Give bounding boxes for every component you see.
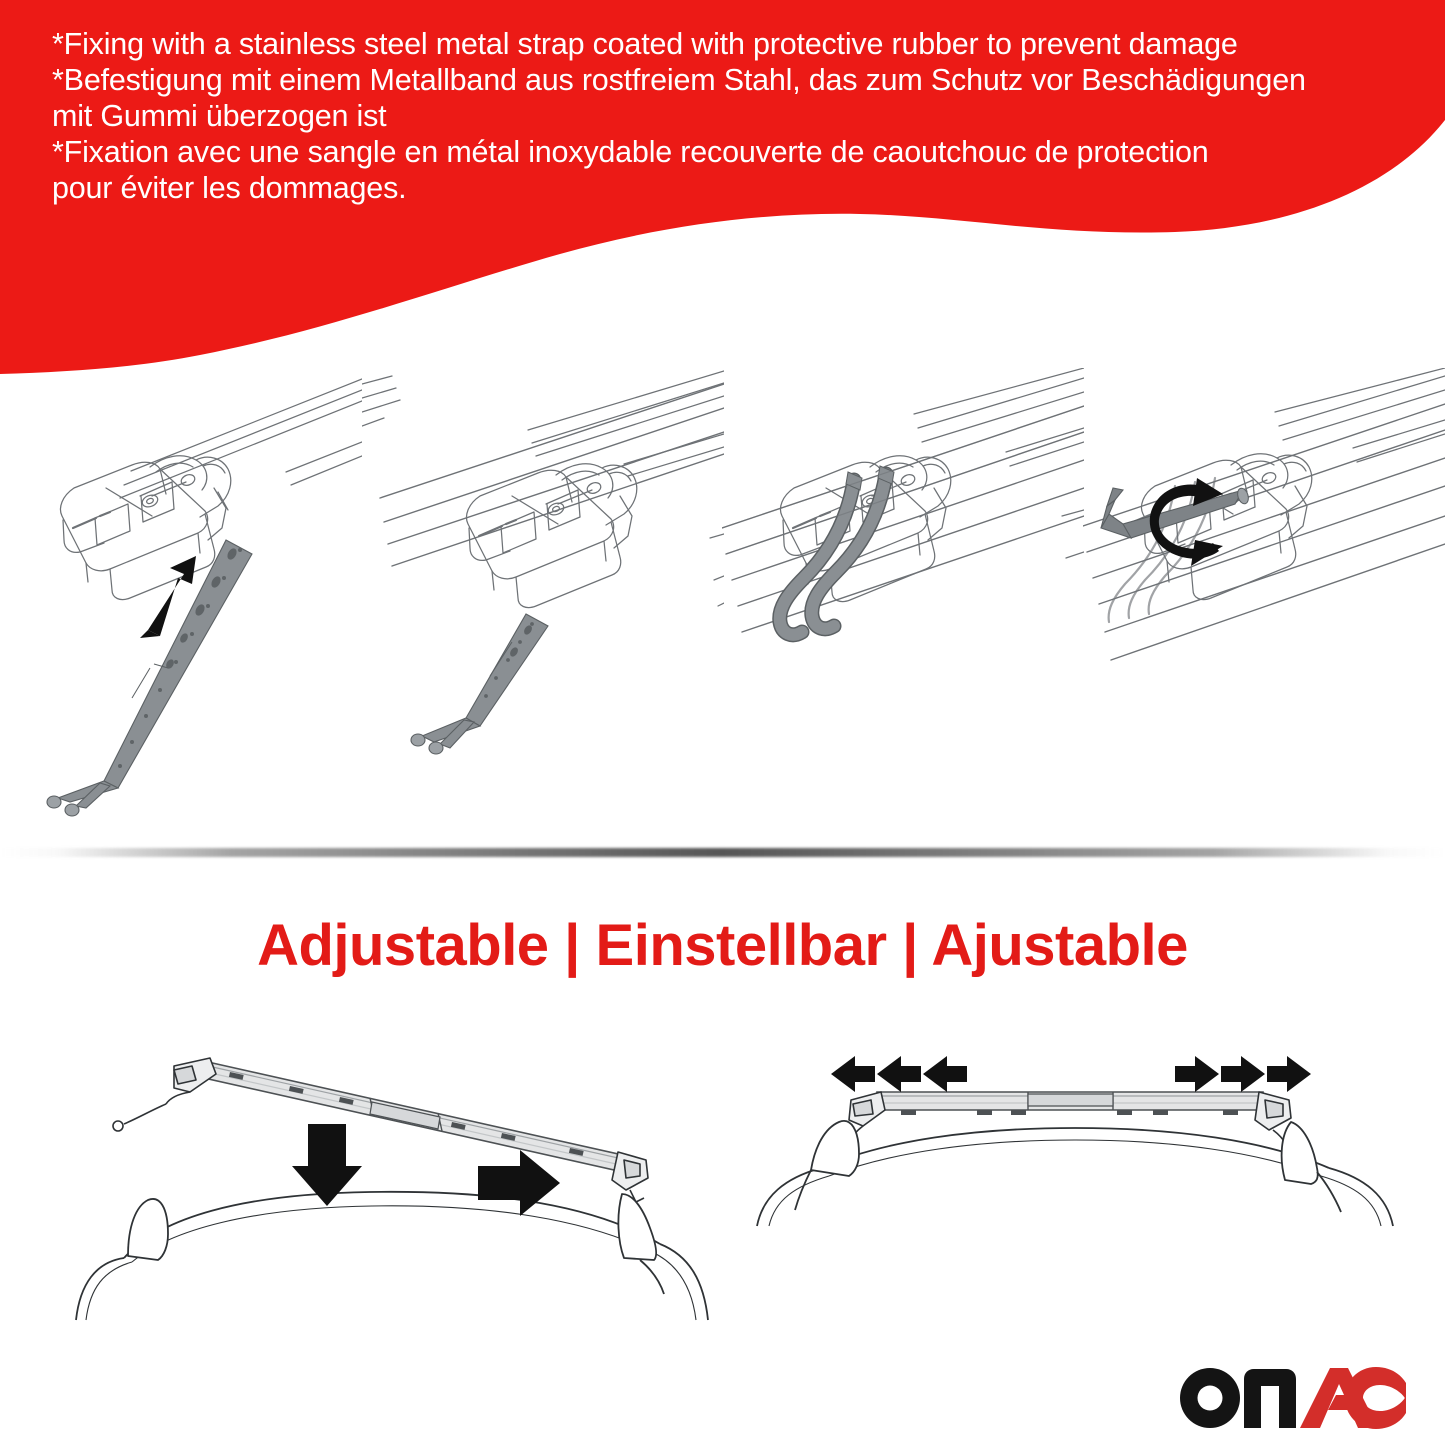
triple-left-arrow-icon — [831, 1056, 967, 1092]
logo-letter-c — [1345, 1367, 1406, 1429]
crossbar — [877, 1092, 1263, 1115]
step-1-illustration — [0, 368, 362, 818]
step-2-place-foot-on-rail — [362, 368, 724, 818]
step-3-wrap-strap — [722, 368, 1084, 818]
omac-logo — [1178, 1365, 1408, 1431]
step-3-illustration — [722, 368, 1084, 818]
metal-strap — [411, 614, 548, 754]
down-arrow-icon — [292, 1124, 362, 1206]
omac-logo-mark — [1178, 1365, 1408, 1431]
crossbar — [204, 1062, 636, 1174]
triple-right-arrow-icon — [1175, 1056, 1311, 1092]
step-4-tighten-allen-key — [1083, 368, 1445, 818]
installation-steps — [0, 368, 1445, 818]
adjustable-heading: Adjustable | Einstellbar | Ajustable — [0, 912, 1445, 979]
logo-letter-m — [1244, 1369, 1296, 1428]
step-2-illustration — [362, 368, 724, 818]
metal-strap — [47, 540, 252, 816]
header-banner: *Fixing with a stainless steel metal str… — [0, 0, 1445, 380]
step-1-insert-strap — [0, 368, 362, 818]
metal-strap-wrapped — [722, 406, 1084, 635]
mount-crossbar-illustration — [40, 1030, 730, 1330]
step-4-illustration — [1083, 368, 1445, 818]
diagram-adjust-width — [745, 1030, 1405, 1330]
section-divider — [0, 848, 1445, 857]
banner-text: *Fixing with a stainless steel metal str… — [52, 26, 1432, 206]
logo-letter-o — [1180, 1368, 1240, 1428]
adjust-width-illustration — [745, 1030, 1405, 1330]
bottom-diagrams — [0, 1030, 1445, 1330]
right-arrow-icon — [478, 1150, 560, 1216]
diagram-mount-crossbar — [40, 1030, 730, 1330]
